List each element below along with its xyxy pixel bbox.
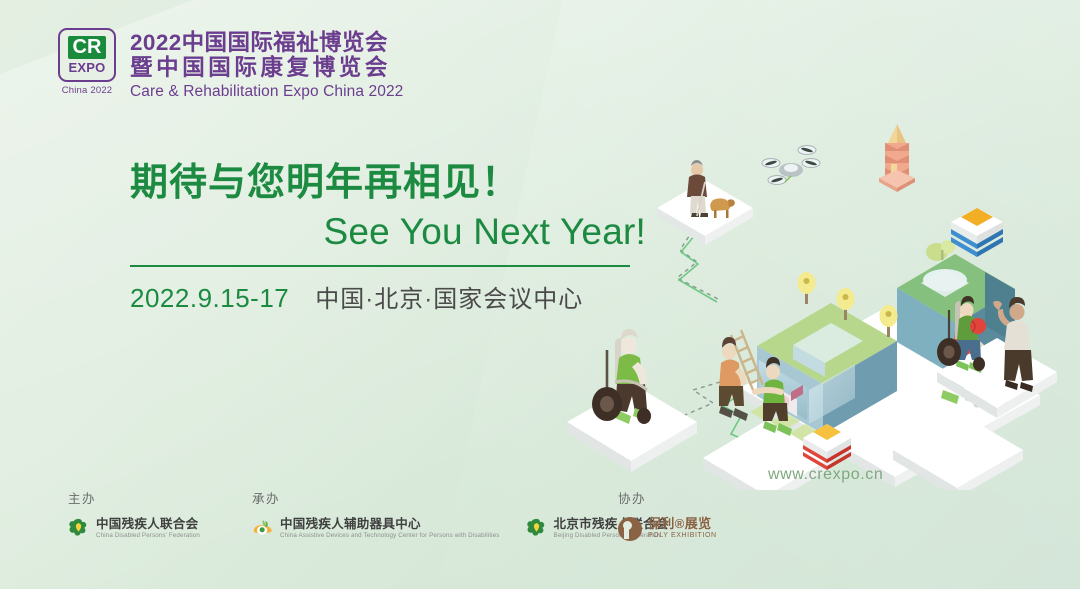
sponsor-role-label: 承办 bbox=[252, 488, 669, 507]
sponsor-org: 保利®展览 POLY EXHIBITION bbox=[618, 517, 717, 541]
sponsor-bar: 主办 中国残疾人联合会 China Disabled Persons' Fede… bbox=[0, 488, 1080, 563]
stacked-box-blue bbox=[951, 208, 1003, 257]
event-title-cn-line1: 2022中国国际福祉博览会 bbox=[130, 30, 403, 55]
sponsor-org: 中国残疾人联合会 China Disabled Persons' Federat… bbox=[68, 517, 200, 540]
sponsor-org-name-cn: 保利®展览 bbox=[648, 517, 717, 531]
flower-emblem-icon bbox=[526, 518, 547, 539]
logo-expo-text: EXPO bbox=[69, 60, 106, 75]
event-title-en: Care & Rehabilitation Expo China 2022 bbox=[130, 82, 403, 101]
sponsor-org-row: 保利®展览 POLY EXHIBITION bbox=[618, 517, 717, 541]
logo-china-year: China 2022 bbox=[62, 85, 113, 97]
sponsor-org-text: 中国残疾人联合会 China Disabled Persons' Federat… bbox=[96, 517, 200, 540]
event-header: CR EXPO China 2022 2022中国国际福祉博览会 暨中国国际康复… bbox=[58, 28, 403, 101]
event-title-block: 2022中国国际福祉博览会 暨中国国际康复博览会 Care & Rehabili… bbox=[130, 28, 403, 101]
sponsor-org-name-en: China Disabled Persons' Federation bbox=[96, 531, 200, 540]
slogan-en: See You Next Year! bbox=[130, 208, 650, 256]
cr-expo-logo-mark: CR EXPO bbox=[58, 28, 116, 82]
event-meta: 2022.9.15-17 中国·北京·国家会议中心 bbox=[130, 279, 650, 314]
sponsor-role-label: 主办 bbox=[68, 488, 200, 507]
wheelchair-user-left bbox=[567, 329, 697, 472]
sponsor-org-name-en: POLY EXHIBITION bbox=[648, 531, 717, 541]
drone-icon bbox=[762, 146, 820, 185]
logo-cr-text: CR bbox=[68, 36, 107, 59]
sponsor-group-organizer: 主办 中国残疾人联合会 China Disabled Persons' Fede… bbox=[68, 488, 200, 540]
assistive-device-icon bbox=[252, 518, 273, 539]
event-venue: 中国·北京·国家会议中心 bbox=[315, 279, 583, 314]
sponsor-org-row: 中国残疾人辅助器具中心 China Assistive Devices and … bbox=[252, 517, 669, 540]
sponsor-org-name-en: China Assistive Devices and Technology C… bbox=[280, 531, 500, 540]
sponsor-org-text: 中国残疾人辅助器具中心 China Assistive Devices and … bbox=[280, 517, 500, 540]
sponsor-group-co-organizer: 协办 保利®展览 POLY EXHIBITION bbox=[618, 488, 717, 541]
pagoda-tower-icon bbox=[879, 124, 915, 192]
sponsor-org-name-cn: 中国残疾人辅助器具中心 bbox=[280, 517, 500, 531]
event-date: 2022.9.15-17 bbox=[130, 283, 289, 314]
sponsor-org-name-cn: 中国残疾人联合会 bbox=[96, 517, 200, 531]
slogan-divider bbox=[130, 265, 630, 267]
slogan-cn: 期待与您明年再相见！ bbox=[130, 160, 650, 206]
guide-dog-walker bbox=[657, 160, 753, 245]
sponsor-group-host: 承办 中国残疾人辅助器具中心 China Assis bbox=[252, 488, 669, 540]
cr-expo-logo: CR EXPO China 2022 bbox=[58, 28, 116, 97]
slogan-block: 期待与您明年再相见！ See You Next Year! 2022.9.15-… bbox=[130, 160, 650, 314]
sponsor-org-row: 中国残疾人联合会 China Disabled Persons' Federat… bbox=[68, 517, 200, 540]
sponsor-org-text: 保利®展览 POLY EXHIBITION bbox=[648, 517, 717, 541]
sponsor-org: 中国残疾人辅助器具中心 China Assistive Devices and … bbox=[252, 517, 500, 540]
website-url[interactable]: www.crexpo.cn bbox=[768, 466, 883, 484]
sponsor-role-label: 协办 bbox=[618, 488, 717, 507]
flower-emblem-icon bbox=[68, 518, 89, 539]
poster-canvas: CR EXPO China 2022 2022中国国际福祉博览会 暨中国国际康复… bbox=[0, 0, 1080, 589]
poly-p-icon bbox=[618, 517, 642, 541]
event-title-cn-line2: 暨中国国际康复博览会 bbox=[130, 55, 403, 81]
